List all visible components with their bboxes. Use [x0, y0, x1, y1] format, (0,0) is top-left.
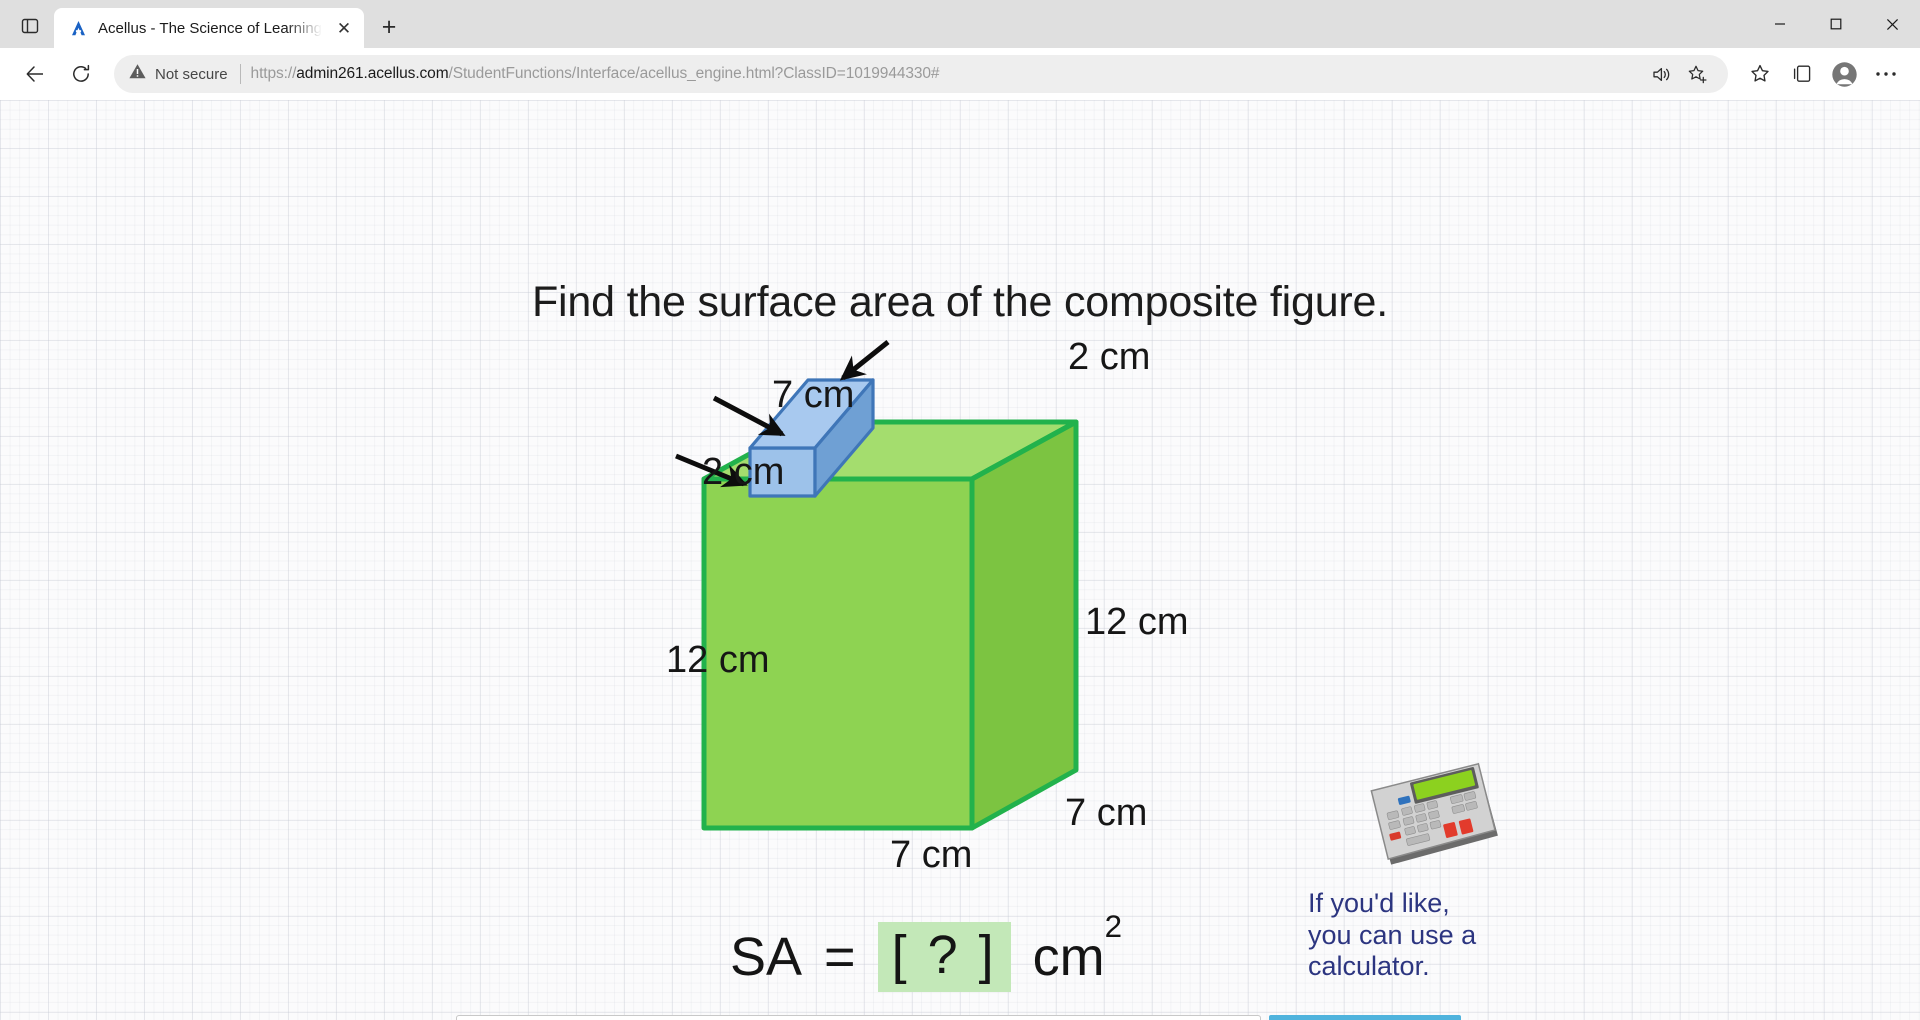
- enter-button[interactable]: Enter: [1269, 1015, 1461, 1020]
- collections-icon[interactable]: [1782, 54, 1822, 94]
- new-tab-button[interactable]: +: [370, 8, 408, 46]
- tab-list-icon[interactable]: [6, 6, 54, 46]
- label-2cm-left: 2 cm: [702, 451, 784, 494]
- url-text[interactable]: https://admin261.acellus.com/StudentFunc…: [251, 65, 1634, 83]
- label-12cm-right: 12 cm: [1085, 601, 1188, 644]
- address-bar[interactable]: Not secure https://admin261.acellus.com/…: [114, 55, 1728, 93]
- maximize-icon[interactable]: [1808, 0, 1864, 48]
- calculator-hint-line-3: calculator.: [1308, 951, 1560, 983]
- window-controls: [1752, 0, 1920, 48]
- calculator-hint: If you'd like, you can use a calculator.: [1300, 760, 1560, 983]
- calculator-hint-text: If you'd like, you can use a calculator.: [1300, 888, 1560, 983]
- browser-toolbar-actions: [1740, 54, 1906, 94]
- more-options-icon[interactable]: [1866, 54, 1906, 94]
- url-prefix: https://: [251, 65, 297, 82]
- security-status[interactable]: Not secure: [128, 62, 228, 86]
- back-arrow-icon[interactable]: [14, 53, 56, 95]
- favorites-star-icon[interactable]: [1740, 54, 1780, 94]
- equation-equals: =: [824, 926, 856, 988]
- label-7cm-right: 7 cm: [1065, 792, 1147, 835]
- navigation-bar: Not secure https://admin261.acellus.com/…: [0, 48, 1920, 100]
- calculator-hint-line-1: If you'd like,: [1308, 888, 1560, 920]
- address-divider: [240, 64, 241, 84]
- figure-svg: [640, 336, 1340, 896]
- security-label: Not secure: [155, 66, 228, 83]
- tab-title: Acellus - The Science of Learning: [98, 20, 322, 37]
- label-top-2cm: 2 cm: [1068, 336, 1150, 379]
- label-7cm-bottom: 7 cm: [890, 834, 972, 877]
- browser-window: Acellus - The Science of Learning ✕ +: [0, 0, 1920, 1020]
- minimize-icon[interactable]: [1752, 0, 1808, 48]
- calculator-hint-line-2: you can use a: [1308, 920, 1560, 952]
- warning-triangle-icon: [128, 62, 147, 86]
- label-12cm-left: 12 cm: [666, 639, 769, 682]
- answer-row: Enter: [456, 1015, 1461, 1020]
- unit-text: cm: [1033, 927, 1105, 987]
- desktop-calculator-icon[interactable]: [1300, 760, 1560, 872]
- address-bar-actions: [1644, 58, 1714, 90]
- prism-right-face: [972, 422, 1076, 828]
- close-icon[interactable]: ✕: [332, 16, 356, 40]
- answer-input[interactable]: [456, 1015, 1261, 1020]
- read-aloud-icon[interactable]: [1644, 58, 1678, 90]
- url-path: /StudentFunctions/Interface/acellus_engi…: [449, 65, 940, 82]
- profile-avatar-icon[interactable]: [1824, 54, 1864, 94]
- browser-tab[interactable]: Acellus - The Science of Learning ✕: [54, 8, 364, 48]
- answer-blank: [ ? ]: [878, 922, 1011, 992]
- close-icon[interactable]: [1864, 0, 1920, 48]
- unit-exponent: 2: [1105, 909, 1122, 944]
- url-host: admin261.acellus.com: [296, 65, 448, 82]
- acellus-logo-icon: [68, 18, 88, 38]
- leader-top-2cm: [843, 342, 888, 378]
- refresh-icon[interactable]: [60, 53, 102, 95]
- add-favorite-icon[interactable]: [1680, 58, 1714, 90]
- label-7cm-top: 7 cm: [772, 374, 854, 417]
- lesson-page: Find the surface area of the composite f…: [0, 100, 1920, 1020]
- surface-area-equation: SA = [ ? ] cm2: [730, 922, 1122, 992]
- equation-unit: cm2: [1033, 926, 1122, 988]
- page-title: Find the surface area of the composite f…: [0, 278, 1920, 327]
- equation-lhs: SA: [730, 926, 802, 988]
- tab-strip: Acellus - The Science of Learning ✕ +: [0, 0, 1920, 48]
- composite-figure: 2 cm 7 cm 2 cm 12 cm 12 cm 7 cm 7 cm: [640, 336, 1340, 896]
